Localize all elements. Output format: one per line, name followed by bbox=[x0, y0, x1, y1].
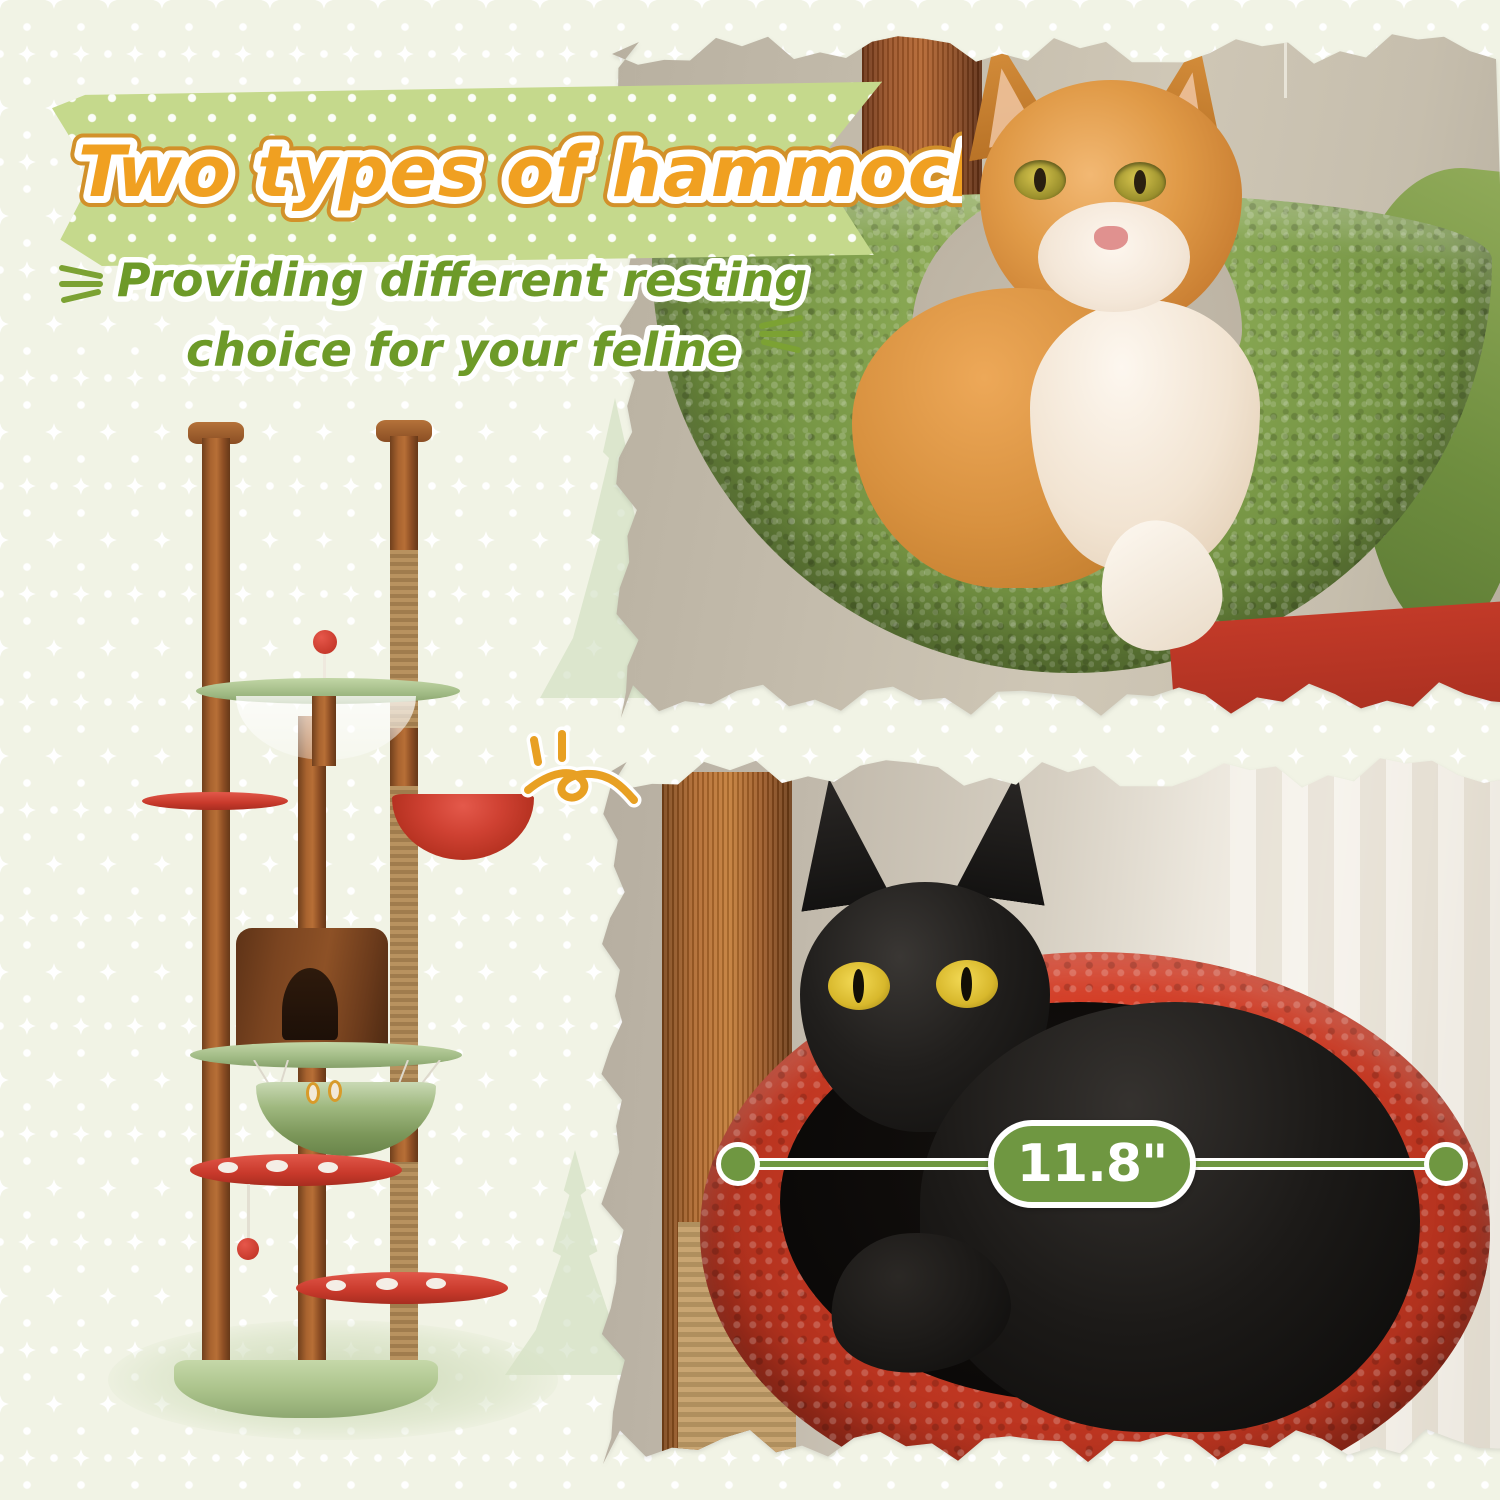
mushroom-dot bbox=[376, 1278, 398, 1290]
cat-tree-product-illustration bbox=[130, 420, 550, 1430]
dimension-endpoint-dot bbox=[716, 1142, 760, 1186]
mushroom-dot bbox=[326, 1280, 346, 1291]
dangling-ball-toy bbox=[237, 1238, 259, 1260]
svg-text:Two types of hammock: Two types of hammock bbox=[78, 131, 962, 213]
measurement-value: 11.8" bbox=[1017, 1138, 1167, 1190]
dome-center-column bbox=[312, 696, 336, 766]
photo-black-cat-red-bowl bbox=[600, 752, 1500, 1464]
hammock-buckle-left bbox=[306, 1082, 320, 1104]
squiggle-loop-doodle-icon bbox=[510, 718, 660, 833]
dimension-endpoint-dot bbox=[1424, 1142, 1468, 1186]
mushroom-dot bbox=[426, 1278, 446, 1289]
sparkle-burst-icon bbox=[742, 300, 812, 370]
mushroom-dot bbox=[266, 1160, 288, 1172]
dangling-toy-string bbox=[247, 1184, 250, 1242]
hammock-buckle-right bbox=[328, 1080, 342, 1102]
svg-text:Providing different resting: Providing different resting bbox=[117, 253, 807, 307]
red-ball-toy bbox=[313, 630, 337, 654]
mushroom-dot bbox=[218, 1162, 238, 1173]
measurement-badge: 11.8" bbox=[988, 1120, 1196, 1208]
marketing-image-canvas: Two types of hammock Two types of hammoc… bbox=[0, 0, 1500, 1500]
svg-text:choice for your feline: choice for your feline bbox=[186, 323, 738, 377]
tension-post-left bbox=[202, 438, 230, 564]
red-flat-perch bbox=[142, 792, 288, 810]
mushroom-dot bbox=[318, 1162, 338, 1173]
sparkle-burst-icon bbox=[52, 250, 122, 320]
dimension-measurement: 11.8" bbox=[716, 1126, 1468, 1202]
tension-post-right bbox=[390, 436, 418, 552]
